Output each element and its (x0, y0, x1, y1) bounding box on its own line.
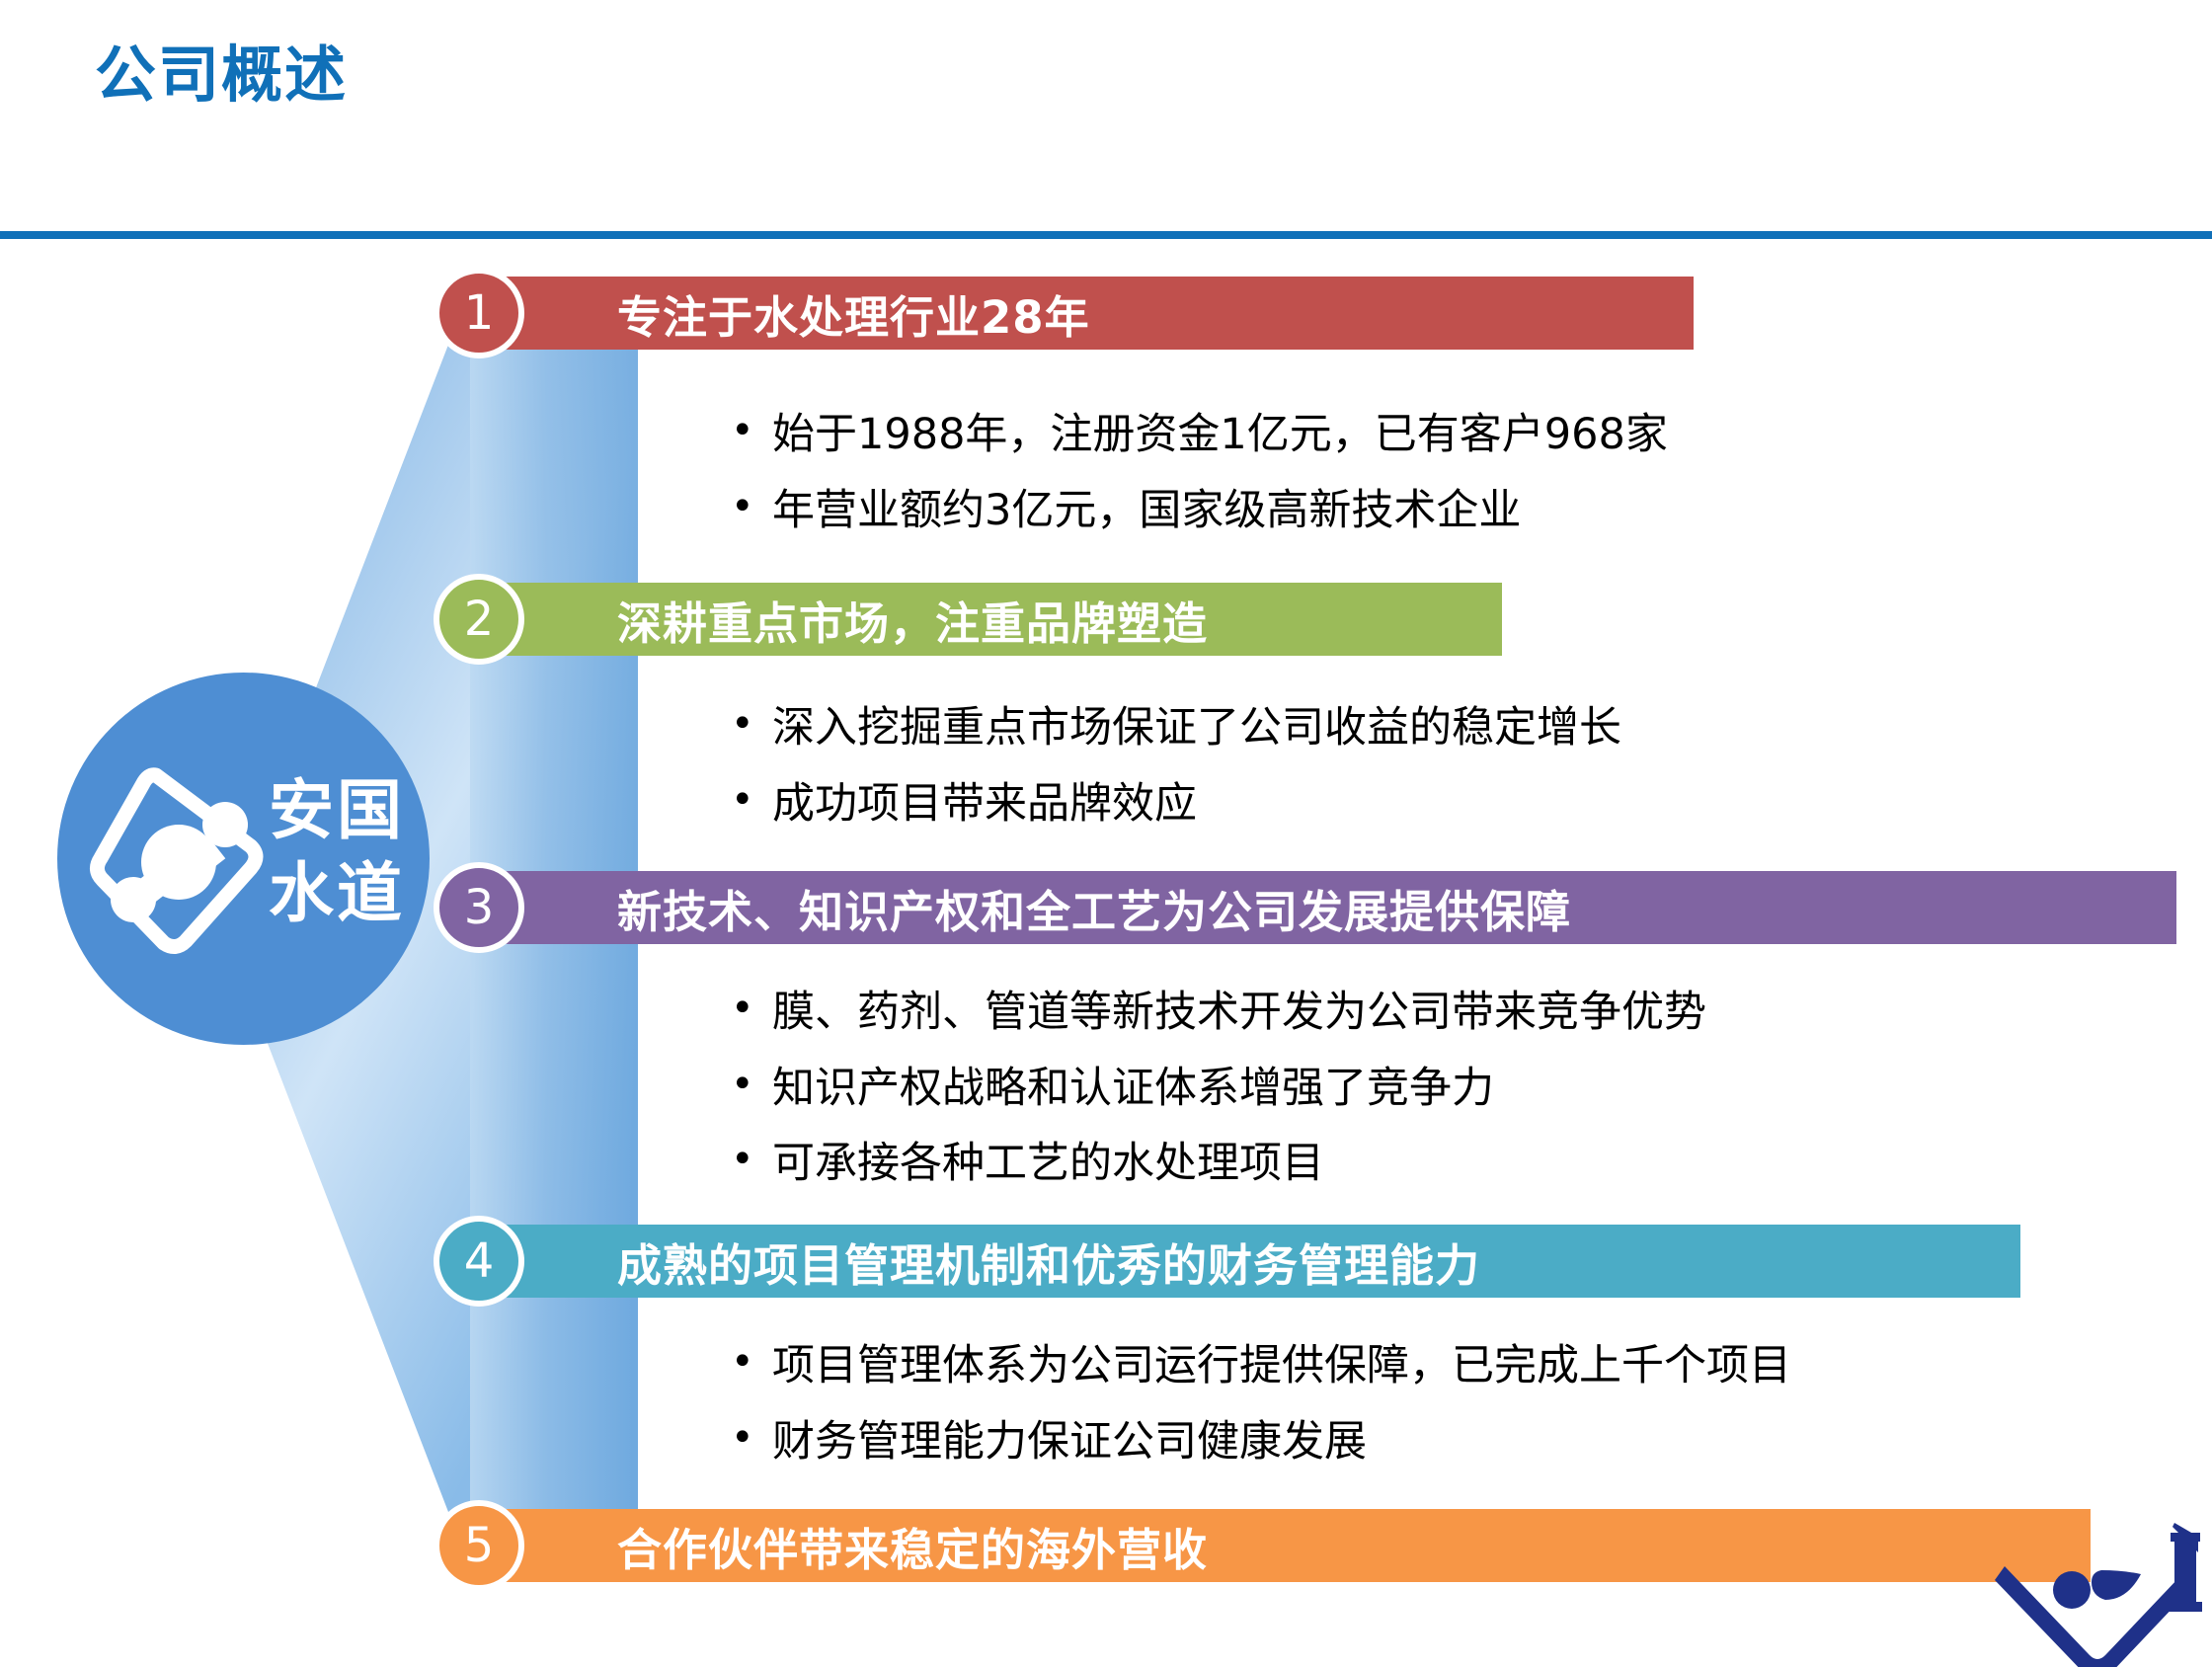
section-number-5: 5 (464, 1518, 495, 1573)
section-banner-5[interactable]: 合作伙伴带来稳定的海外营收 (505, 1509, 2091, 1582)
list-item: 深入挖掘重点市场保证了公司收益的稳定增长 (731, 703, 1621, 754)
section-bullets-2: 深入挖掘重点市场保证了公司收益的稳定增长 成功项目带来品牌效应 (731, 703, 1621, 854)
list-item: 始于1988年，注册资金1亿元，已有客户968家 (731, 410, 1668, 460)
section-bullets-3: 膜、药剂、管道等新技术开发为公司带来竞争优势 知识产权战略和认证体系增强了竞争力… (731, 988, 1706, 1215)
section-title-2: 深耕重点市场，注重品牌塑造 (617, 588, 1208, 652)
section-number-badge-4[interactable]: 4 (434, 1216, 524, 1307)
section-number-4: 4 (464, 1233, 495, 1289)
list-item: 可承接各种工艺的水处理项目 (731, 1139, 1706, 1189)
section-bullets-1: 始于1988年，注册资金1亿元，已有客户968家 年营业额约3亿元，国家级高新技… (731, 410, 1668, 561)
brand-wordmark-line2: 水道 (269, 852, 436, 935)
list-item: 成功项目带来品牌效应 (731, 779, 1621, 830)
list-item: 年营业额约3亿元，国家级高新技术企业 (731, 486, 1668, 536)
section-number-badge-1[interactable]: 1 (434, 268, 524, 358)
section-bullets-4: 项目管理体系为公司运行提供保障，已完成上千个项目 财务管理能力保证公司健康发展 (731, 1341, 1791, 1492)
list-item: 膜、药剂、管道等新技术开发为公司带来竞争优势 (731, 988, 1706, 1038)
section-number-badge-2[interactable]: 2 (434, 574, 524, 665)
section-banner-2[interactable]: 深耕重点市场，注重品牌塑造 (505, 583, 1502, 656)
title-divider (0, 231, 2212, 239)
section-banner-3[interactable]: 新技术、知识产权和全工艺为公司发展提供保障 (505, 871, 2176, 944)
section-title-4: 成熟的项目管理机制和优秀的财务管理能力 (617, 1230, 1480, 1294)
section-title-1: 专注于水处理行业28年 (617, 281, 1090, 346)
brand-wordmark-line1: 安国 (269, 769, 436, 852)
corner-logo-icon (1995, 1519, 2212, 1667)
brand-circle: 安国 水道 (57, 673, 430, 1045)
list-item: 财务管理能力保证公司健康发展 (731, 1417, 1791, 1468)
section-number-badge-3[interactable]: 3 (434, 862, 524, 953)
page-title: 公司概述 (95, 41, 348, 109)
brand-wordmark: 安国 水道 (269, 769, 436, 936)
section-number-2: 2 (464, 592, 495, 647)
section-number-1: 1 (464, 285, 495, 341)
list-item: 项目管理体系为公司运行提供保障，已完成上千个项目 (731, 1341, 1791, 1391)
section-title-5: 合作伙伴带来稳定的海外营收 (617, 1514, 1208, 1578)
section-title-3: 新技术、知识产权和全工艺为公司发展提供保障 (617, 876, 1571, 940)
list-item: 知识产权战略和认证体系增强了竞争力 (731, 1064, 1706, 1114)
section-banner-1[interactable]: 专注于水处理行业28年 (505, 277, 1694, 350)
molecule-diamond-icon (87, 763, 271, 957)
section-number-badge-5[interactable]: 5 (434, 1500, 524, 1591)
section-number-3: 3 (464, 880, 495, 935)
section-banner-4[interactable]: 成熟的项目管理机制和优秀的财务管理能力 (505, 1225, 2020, 1298)
